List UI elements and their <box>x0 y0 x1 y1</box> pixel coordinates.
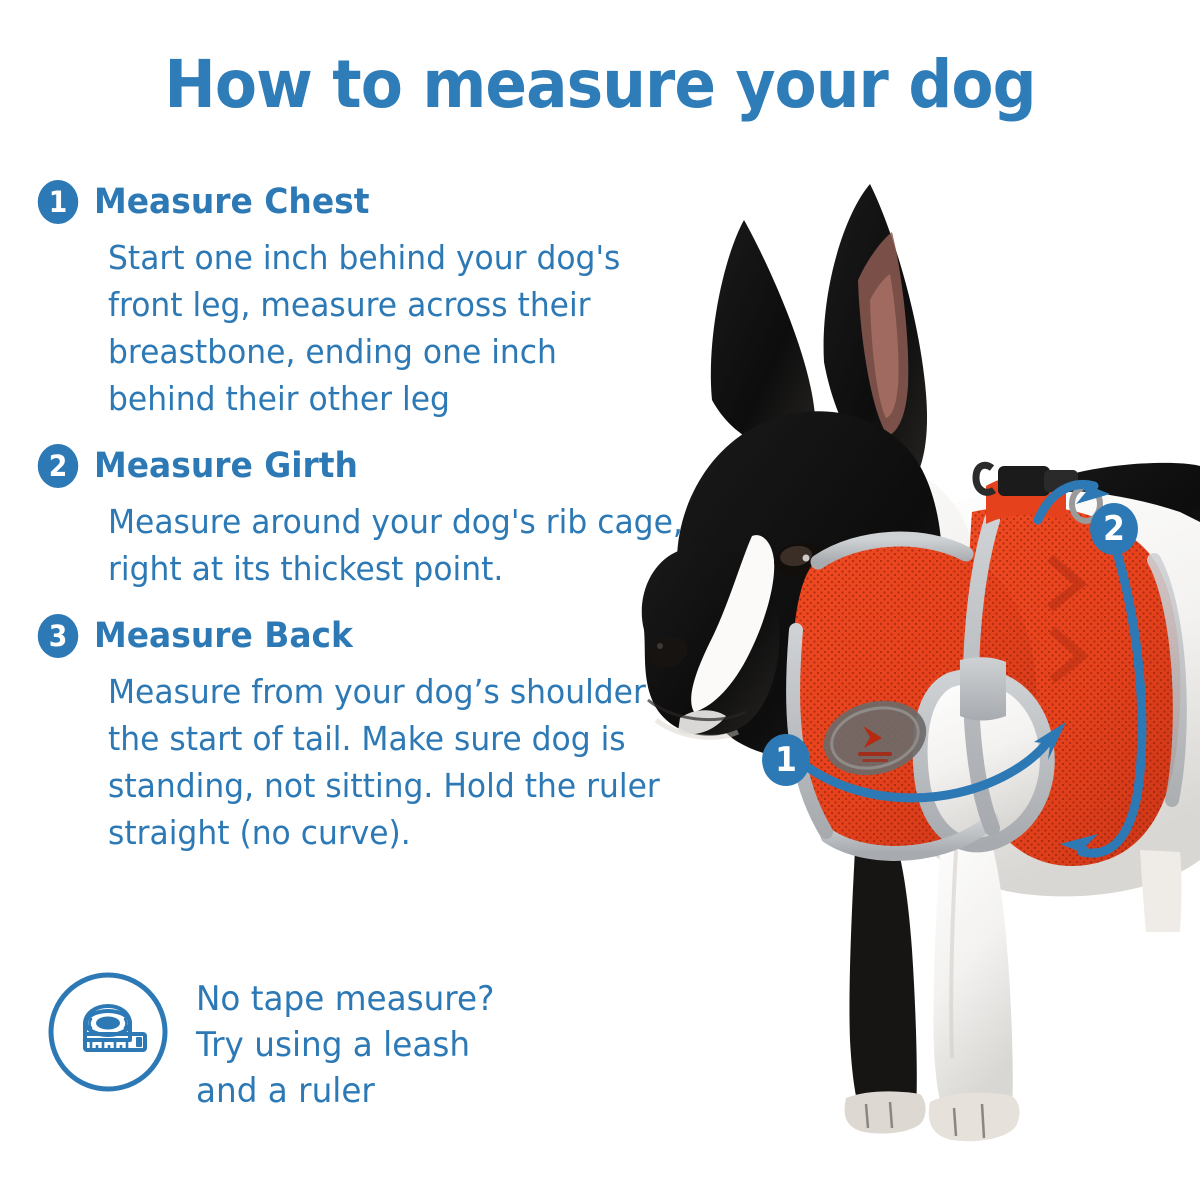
callout-badge-2: 2 <box>1090 503 1138 555</box>
step-2-badge: 2 <box>38 444 78 488</box>
step-2-heading: Measure Girth <box>94 446 358 486</box>
infographic-root: How to measure your dog 1 Measure Chest … <box>0 0 1200 1200</box>
dog-illustration <box>642 184 1200 1141</box>
step-3-heading: Measure Back <box>94 616 353 656</box>
callout-badge-1: 1 <box>762 734 810 786</box>
dog-photo <box>620 160 1200 1160</box>
step-3-badge: 3 <box>38 614 78 658</box>
tip-text: No tape measure? Try using a leash and a… <box>196 976 494 1114</box>
page-title: How to measure your dog <box>42 46 1158 123</box>
step-1-body: Start one inch behind your dog's front l… <box>108 234 640 422</box>
tape-measure-icon <box>44 968 172 1096</box>
step-1-heading: Measure Chest <box>94 182 369 222</box>
tip-block: No tape measure? Try using a leash and a… <box>44 968 507 1114</box>
far-front-leg <box>849 830 916 1116</box>
harness-shoulder-strap <box>960 657 1006 720</box>
step-1-badge: 1 <box>38 180 78 224</box>
